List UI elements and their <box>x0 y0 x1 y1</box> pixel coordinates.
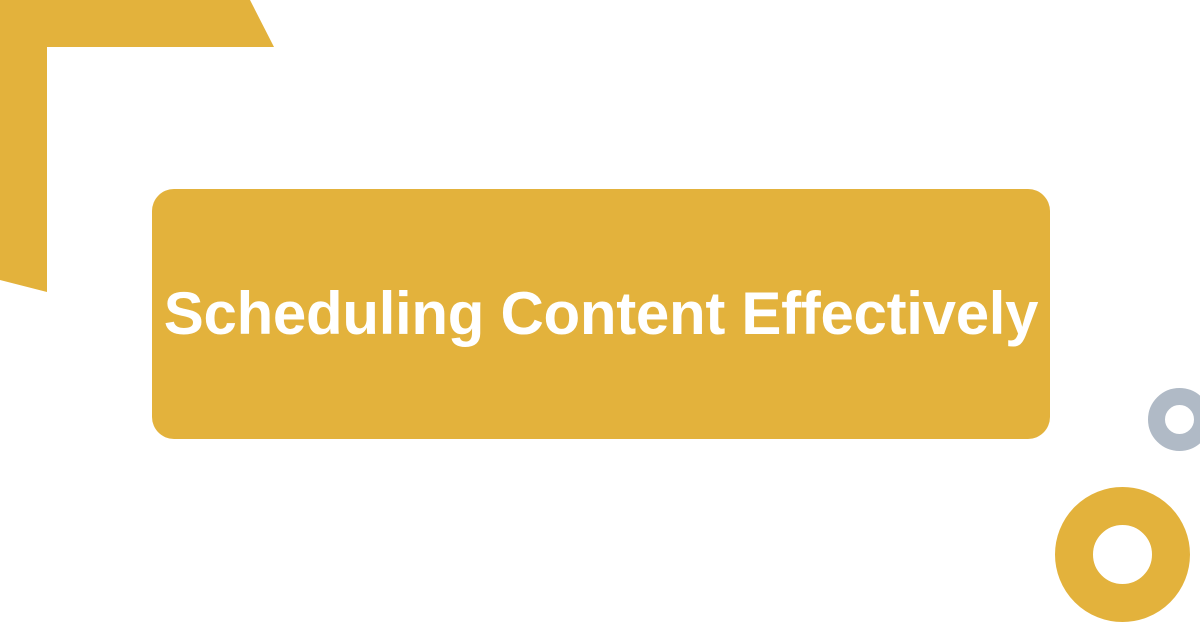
page-title: Scheduling Content Effectively <box>164 280 1038 347</box>
gray-donut-ring-icon <box>1148 388 1200 451</box>
gold-donut-ring-icon <box>1055 487 1190 622</box>
banner-canvas: Scheduling Content Effectively <box>0 0 1200 630</box>
title-card: Scheduling Content Effectively <box>152 189 1050 439</box>
